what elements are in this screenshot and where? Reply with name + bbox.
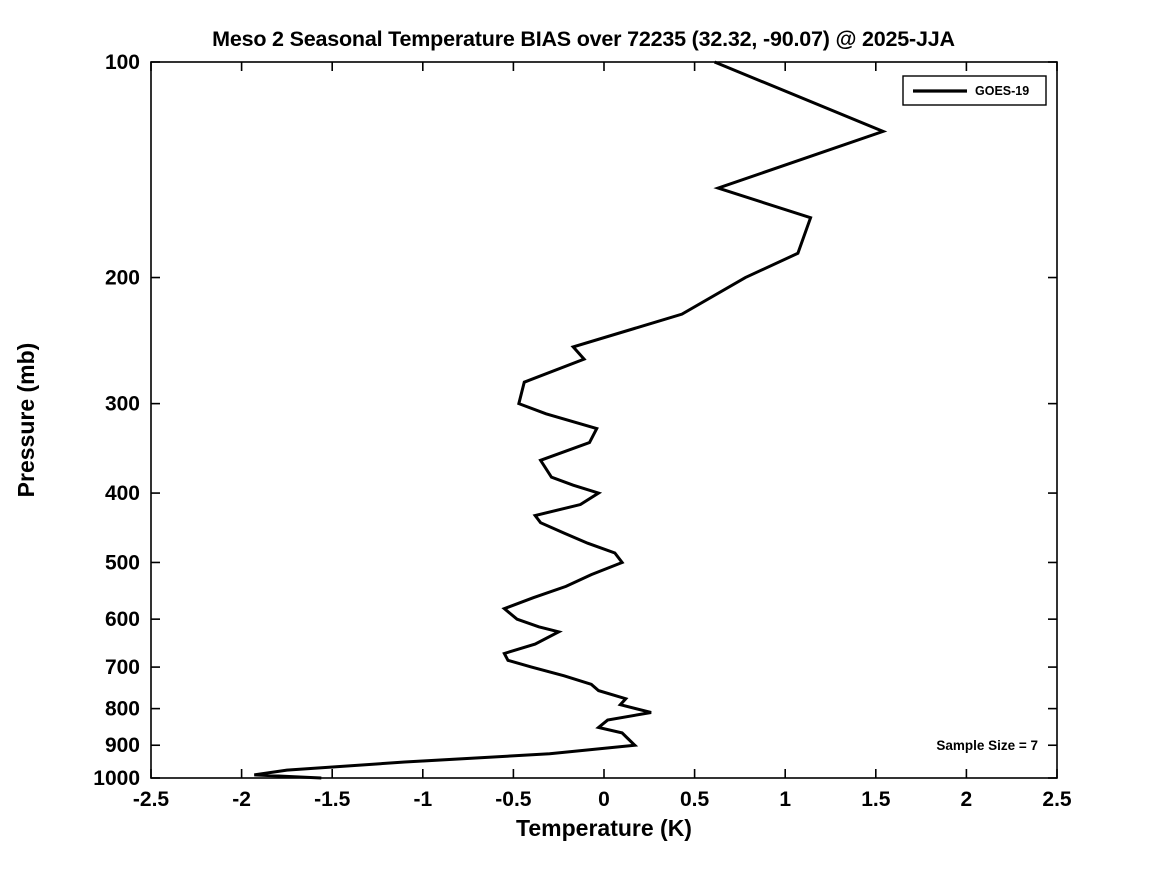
x-tick-label: 0 (598, 788, 610, 811)
x-tick-label: 0.5 (680, 788, 710, 811)
x-tick-label: -0.5 (495, 788, 532, 811)
y-tick-label: 200 (105, 267, 140, 290)
data-series-group (254, 62, 883, 778)
x-tick-label: -1.5 (314, 788, 351, 811)
y-tick-label: 400 (105, 482, 140, 505)
y-tick-label: 700 (105, 656, 140, 679)
x-tick-label: 2 (961, 788, 973, 811)
plot-area-border (151, 62, 1057, 778)
x-axis-ticks (151, 62, 1057, 778)
y-tick-label: 900 (105, 734, 140, 757)
x-tick-label: -1 (413, 788, 432, 811)
y-tick-label: 800 (105, 698, 140, 721)
y-tick-label: 100 (105, 51, 140, 74)
y-axis-title: Pressure (mb) (13, 343, 39, 498)
x-axis-tick-labels: -2.5-2-1.5-1-0.500.511.522.5 (133, 788, 1072, 811)
y-axis-ticks (151, 62, 1057, 778)
x-tick-label: 1 (779, 788, 791, 811)
y-axis-tick-labels: 1002003004005006007008009001000 (93, 51, 140, 790)
x-tick-label: 2.5 (1042, 788, 1072, 811)
legend[interactable]: GOES-19 (903, 76, 1046, 105)
temperature-bias-profile-chart: -2.5-2-1.5-1-0.500.511.522.5 10020030040… (0, 0, 1167, 875)
data-line-goes-19 (254, 62, 883, 778)
chart-figure: Meso 2 Seasonal Temperature BIAS over 72… (0, 0, 1167, 875)
y-tick-label: 300 (105, 393, 140, 416)
legend-label-goes-19: GOES-19 (975, 84, 1029, 98)
y-tick-label: 1000 (93, 767, 140, 790)
x-tick-label: 1.5 (861, 788, 891, 811)
x-tick-label: -2 (232, 788, 251, 811)
y-tick-label: 500 (105, 551, 140, 574)
x-tick-label: -2.5 (133, 788, 170, 811)
x-axis-title: Temperature (K) (516, 815, 692, 841)
sample-size-annotation: Sample Size = 7 (936, 738, 1038, 753)
y-tick-label: 600 (105, 608, 140, 631)
